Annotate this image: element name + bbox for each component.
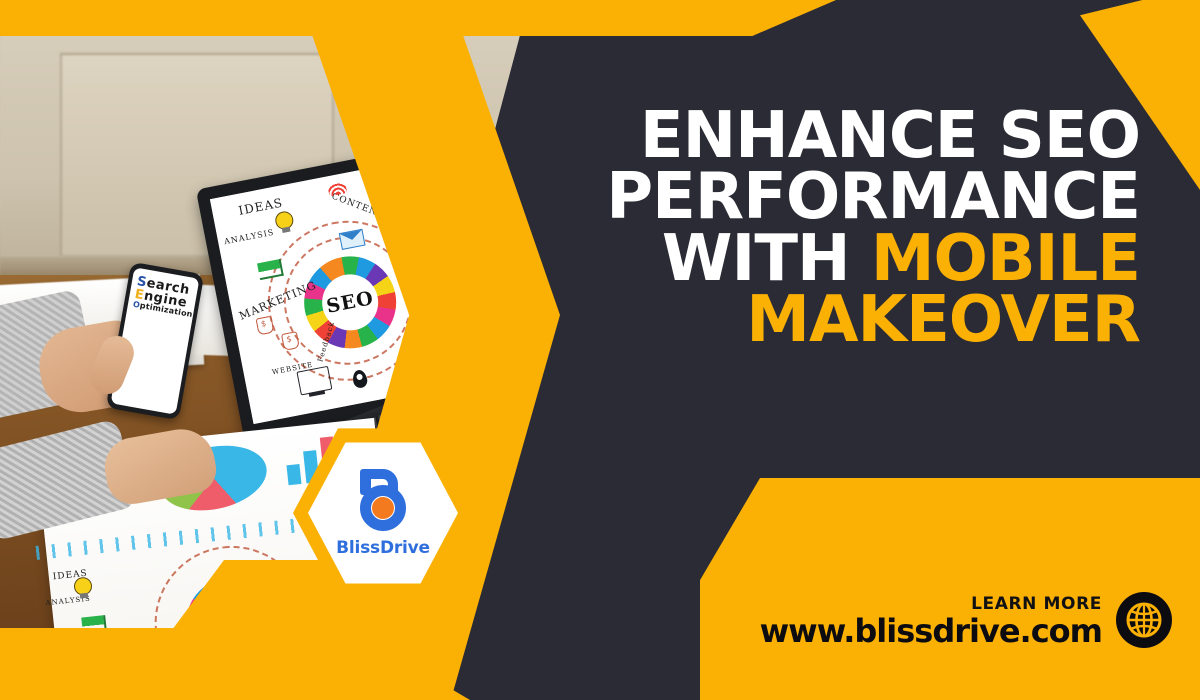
website-url[interactable]: www.blissdrive.com [760,615,1102,647]
lightbulb-icon [274,210,295,231]
logo-brand-name: BlissDrive [336,538,430,558]
headline-line-1: ENHANCE SEO [500,106,1140,167]
cta-text-group: LEARN MORE www.blissdrive.com [760,594,1102,647]
cta-block[interactable]: LEARN MORE www.blissdrive.com [760,592,1172,648]
seo-promo-banner: Search Engine Optimization SEO IDE [0,0,1200,700]
headline-line-3: WITH MOBILE [500,229,1140,290]
headline-line-2: PERFORMANCE [500,167,1140,228]
logo-inner-hexagon: BlissDrive [308,438,458,588]
learn-more-label: LEARN MORE [971,594,1102,614]
globe-icon[interactable] [1116,592,1172,648]
headline-line-4: MAKEOVER [500,290,1140,351]
wifi-icon [327,181,347,196]
monitor-icon [296,366,332,396]
phone-seo-text: Search Engine Optimization [132,275,195,319]
label-analysis: ANALYSIS [223,228,275,247]
blissdrive-b-mark-icon [350,469,416,531]
bottom-right-yellow-panel [700,478,1200,700]
headline: ENHANCE SEO PERFORMANCE WITH MOBILE MAKE… [500,106,1140,352]
nb-lightbulb-icon [73,576,93,596]
money-bag-icon-1 [256,316,275,336]
logo-hook [368,469,398,495]
logo-orange-dot [372,497,394,519]
